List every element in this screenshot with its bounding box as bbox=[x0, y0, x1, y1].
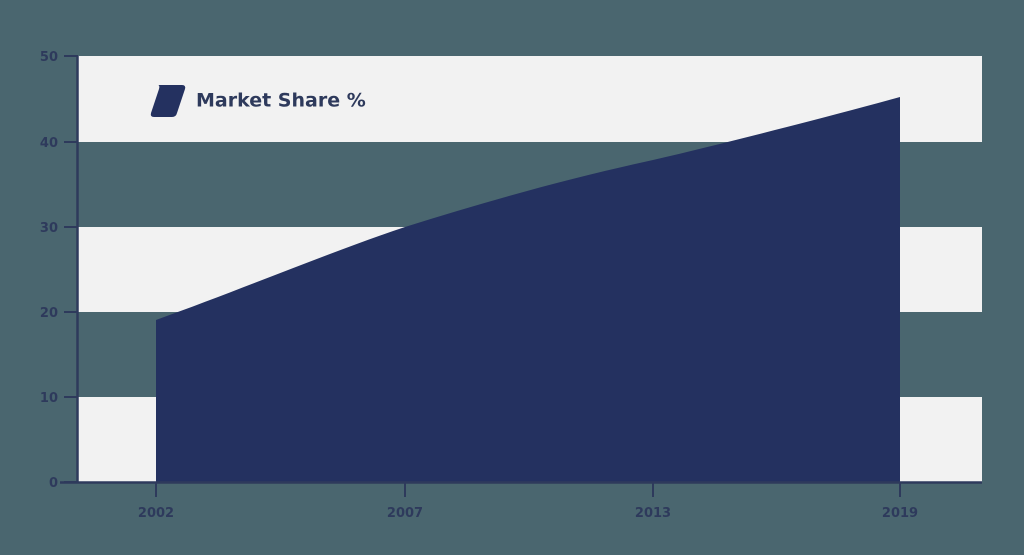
area-path-market-share bbox=[156, 97, 900, 482]
y-tick-label-40: 40 bbox=[40, 136, 58, 151]
x-tick-label-2007: 2007 bbox=[387, 506, 423, 521]
y-tick-label-30: 30 bbox=[40, 221, 58, 236]
x-tick-label-2013: 2013 bbox=[635, 506, 671, 521]
legend-label-market-share: Market Share % bbox=[196, 90, 366, 112]
chart-container: 50 40 30 20 10 0 2002 2007 2013 2019 Mar… bbox=[0, 0, 1024, 555]
y-axis-ticks bbox=[64, 56, 78, 482]
y-tick-label-20: 20 bbox=[40, 306, 58, 321]
x-tick-label-2002: 2002 bbox=[138, 506, 174, 521]
y-tick-label-50: 50 bbox=[40, 50, 58, 65]
x-tick-label-2019: 2019 bbox=[882, 506, 918, 521]
x-axis-labels: 2002 2007 2013 2019 bbox=[138, 506, 918, 521]
y-axis-labels: 50 40 30 20 10 0 bbox=[40, 50, 58, 491]
y-tick-label-0: 0 bbox=[49, 476, 58, 491]
series-market-share bbox=[156, 97, 900, 482]
y-tick-label-10: 10 bbox=[40, 391, 58, 406]
area-chart: 50 40 30 20 10 0 2002 2007 2013 2019 Mar… bbox=[0, 0, 1024, 555]
x-axis-ticks bbox=[156, 483, 900, 497]
